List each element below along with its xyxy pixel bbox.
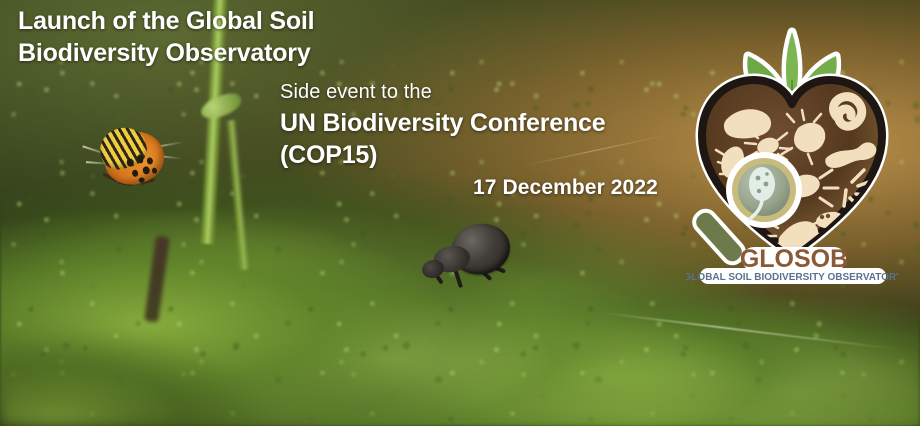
event-name-line-2: (COP15) [280, 140, 700, 172]
event-banner: Launch of the Global Soil Biodiversity O… [0, 0, 920, 426]
side-event-label: Side event to the [280, 80, 432, 104]
logo-fullname: GLOBAL SOIL BIODIVERSITY OBSERVATORY [686, 272, 898, 283]
title-line-2: Biodiversity Observatory [18, 38, 438, 70]
logo-fullname-badge: GLOBAL SOIL BIODIVERSITY OBSERVATORY [686, 268, 898, 284]
event-name: UN Biodiversity Conference (COP15) [280, 108, 700, 171]
page-title: Launch of the Global Soil Biodiversity O… [18, 6, 438, 69]
glosob-logo: GLOSOB GLOBAL SOIL BIODIVERSITY OBSERVAT… [686, 22, 898, 284]
event-name-line-1: UN Biodiversity Conference [280, 108, 700, 140]
event-date: 17 December 2022 [473, 176, 658, 200]
title-line-1: Launch of the Global Soil [18, 6, 438, 38]
colorado-potato-beetle-icon [96, 128, 170, 190]
dark-weevil-icon [418, 222, 526, 302]
